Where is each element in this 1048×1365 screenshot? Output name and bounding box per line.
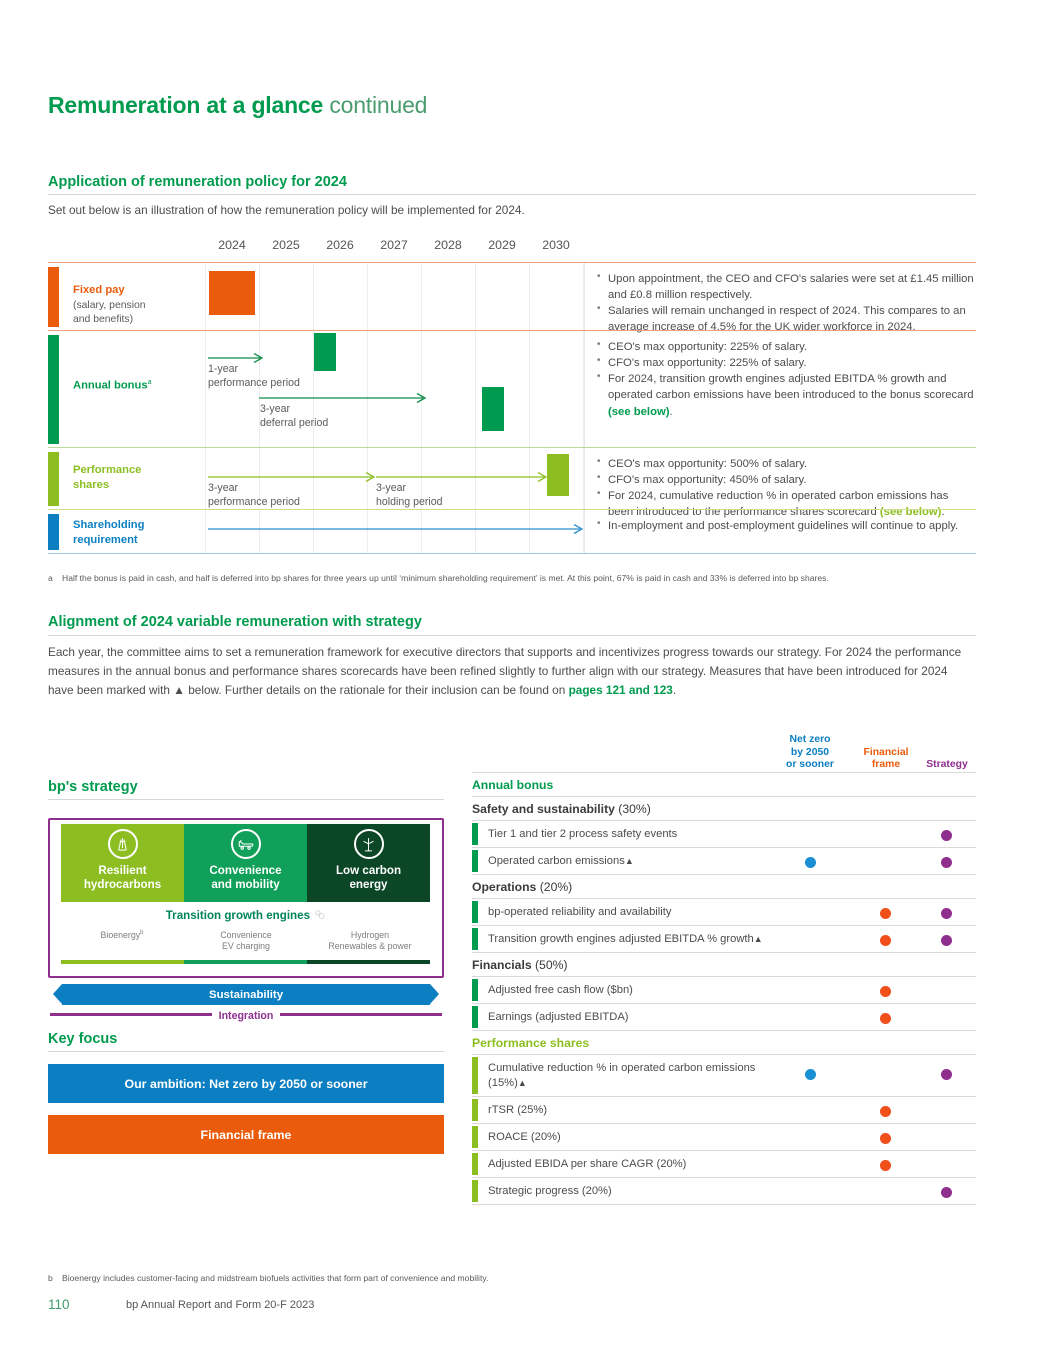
scorecard-dot-strategy	[941, 908, 952, 919]
timeline-row-shareholding: Shareholdingrequirement In-employment an…	[48, 510, 976, 554]
timeline-annotation-3-year-holding: 3-yearholding period	[376, 482, 486, 509]
scorecard-col-strategy: Strategy	[916, 759, 978, 772]
scorecard-row-bar	[472, 928, 478, 950]
strategy-pillar-2-title: Convenienceand mobility	[184, 864, 307, 892]
key-focus-block-net-zero: Our ambition: Net zero by 2050 or sooner	[48, 1064, 444, 1103]
scorecard-group-safety-pct: (30%)	[615, 802, 651, 816]
scorecard-row-adjusted-ebida-cagr[interactable]: Adjusted EBIDA per share CAGR (20%)	[472, 1150, 976, 1177]
integration-label: Integration	[212, 1010, 281, 1022]
scorecard-group-operations-name: Operations	[472, 880, 536, 894]
strategy-pillar-3-title: Low carbonenergy	[307, 864, 430, 892]
scorecard-section-annual-bonus-label: Annual bonus	[472, 773, 976, 796]
scorecard-col-net-zero-l2: by 2050	[791, 747, 829, 758]
page-root: Remuneration at a glance continued Appli…	[0, 0, 1048, 1365]
key-focus-block-financial-frame: Financial frame	[48, 1115, 444, 1154]
key-focus-heading: Key focus	[48, 1031, 117, 1047]
timeline-label-performance-shares: Performanceshares	[73, 463, 203, 492]
bullet-shareholding-1: In-employment and post-employment guidel…	[597, 518, 976, 534]
timeline-annotation-3-year-performance: 3-yearperformance period	[208, 482, 323, 509]
section-rule-1	[48, 194, 976, 195]
timeline-accent-annual-bonus	[48, 335, 59, 444]
alignment-para-part1: Each year, the committee aims to set a r…	[48, 645, 961, 697]
scorecard-row-bar	[472, 1006, 478, 1028]
report-source-label: bp Annual Report and Form 20-F 2023	[126, 1299, 314, 1311]
strategy-pillar-1-title: Resilienthydrocarbons	[61, 864, 184, 892]
scorecard-dot-strategy	[941, 1069, 952, 1080]
timeline-row-annual-bonus: Annual bonusa 1-yearperformance period 3…	[48, 331, 976, 448]
scorecard-row-tier1-tier2[interactable]: Tier 1 and tier 2 process safety events	[472, 820, 976, 847]
scorecard-col-net-zero-l1: Net zero	[790, 734, 831, 745]
page-title-bold: Remuneration at a glance	[48, 92, 323, 118]
oil-derrick-icon	[108, 829, 138, 859]
scorecard-group-financials: Financials (50%)	[472, 952, 976, 976]
tge-title: Transition growth engines	[166, 909, 310, 922]
timeline-row-fixed-pay: Fixed pay (salary, pensionand benefits) …	[48, 263, 976, 331]
scorecard-row-label: Earnings (adjusted EBITDA)	[472, 1004, 976, 1030]
scorecard-row-label: Operated carbon emissions▲	[472, 848, 976, 874]
key-focus-rule	[48, 1051, 444, 1052]
scorecard-row-earnings-adjusted-ebitda[interactable]: Earnings (adjusted EBITDA)	[472, 1003, 976, 1030]
scorecard-dot-financial-frame	[880, 1106, 891, 1117]
scorecard-dot-strategy	[941, 1187, 952, 1198]
timeline-notes-annual-bonus: CEO's max opportunity: 225% of salary. C…	[584, 331, 976, 448]
timeline-year-2026: 2026	[313, 238, 367, 252]
timeline-row-performance-shares: Performanceshares 3-yearperformance peri…	[48, 448, 976, 510]
strategy-rule	[48, 799, 444, 800]
footnote-b-text: Bioenergy includes customer-facing and m…	[62, 1273, 488, 1283]
page-title-continued: continued	[329, 92, 427, 118]
scorecard-row-operated-carbon-emissions[interactable]: Operated carbon emissions▲	[472, 847, 976, 874]
new-measure-triangle-icon: ▲	[518, 1078, 527, 1088]
scorecard-dot-financial-frame	[880, 986, 891, 997]
scorecard-row-tge-ebitda-growth[interactable]: Transition growth engines adjusted EBITD…	[472, 925, 976, 952]
section-heading-application: Application of remuneration policy for 2…	[48, 174, 347, 190]
timeline-annotation-1-year: 1-yearperformance period	[208, 363, 318, 390]
bullet-performance-shares-2: CFO's max opportunity: 450% of salary.	[597, 472, 976, 488]
timeline-year-2028: 2028	[421, 238, 475, 252]
timeline-notes-fixed-pay: Upon appointment, the CEO and CFO's sala…	[584, 263, 976, 331]
timeline-accent-shareholding	[48, 514, 59, 550]
scorecard-group-financials-label: Financials (50%)	[472, 953, 976, 976]
scorecard-dot-strategy	[941, 830, 952, 841]
scorecard-group-operations-label: Operations (20%)	[472, 875, 976, 898]
tge-columns: Bioenergyb ConvenienceEV charging Hydrog…	[60, 930, 432, 953]
scorecard-section-performance-shares-label: Performance shares	[472, 1031, 976, 1054]
sustainability-label: Sustainability	[209, 989, 283, 1001]
scorecard-row-bar	[472, 1099, 478, 1121]
timeline-year-2029: 2029	[475, 238, 529, 252]
timeline-label-name-annual-bonus: Annual bonus	[73, 380, 148, 392]
scorecard-group-safety: Safety and sustainability (30%)	[472, 796, 976, 820]
timeline-arrow-3-year-holding	[376, 472, 550, 482]
bp-strategy-diagram: Resilienthydrocarbons Convenienceand mob…	[48, 818, 444, 1016]
scorecard-dot-financial-frame	[880, 1013, 891, 1024]
scorecard-row-label: Adjusted free cash flow ($bn)	[472, 977, 976, 1003]
timeline-year-2030: 2030	[529, 238, 583, 252]
engine-gears-icon	[313, 908, 326, 921]
section-rule-2	[48, 635, 976, 636]
scorecard-group-financials-name: Financials	[472, 958, 532, 972]
timeline-arrow-3-year-deferral	[259, 393, 429, 403]
tge-column-2-line1: Convenience	[220, 930, 271, 940]
bullet-fixed-pay-1: Upon appointment, the CEO and CFO's sala…	[597, 271, 976, 303]
scorecard-bottom-rule	[472, 1204, 976, 1205]
scorecard-col-financial-l2: frame	[872, 759, 900, 770]
tge-column-2: ConvenienceEV charging	[184, 930, 308, 953]
scorecard-row-label: rTSR (25%)	[472, 1097, 976, 1123]
footnote-a-text: Half the bonus is paid in cash, and half…	[62, 573, 829, 583]
integration-band: Integration	[48, 1006, 444, 1020]
tge-column-3-line2: Renewables & power	[328, 941, 411, 951]
scorecard-col-financial-l1: Financial	[863, 747, 908, 758]
scorecard-dot-strategy	[941, 935, 952, 946]
scorecard-dot-financial-frame	[880, 1160, 891, 1171]
scorecard-row-label: Transition growth engines adjusted EBITD…	[472, 926, 976, 952]
section-intro-application: Set out below is an illustration of how …	[48, 201, 976, 220]
timeline-year-header: 2024 2025 2026 2027 2028 2029 2030	[48, 238, 976, 262]
scorecard-row-label-text: Operated carbon emissions	[488, 855, 625, 867]
scorecard-dot-financial-frame	[880, 935, 891, 946]
footnote-b: bBioenergy includes customer-facing and …	[48, 1272, 976, 1285]
timeline-accent-performance-shares	[48, 452, 59, 506]
scorecard-dot-net-zero	[805, 857, 816, 868]
timeline-arrow-shareholding	[208, 524, 586, 534]
tge-column-3: HydrogenRenewables & power	[308, 930, 432, 953]
key-focus-block-1-label: Our ambition: Net zero by 2050 or sooner	[124, 1077, 367, 1091]
page-title: Remuneration at a glance continued	[48, 92, 427, 119]
new-measure-triangle-icon: ▲	[754, 934, 763, 944]
transition-growth-engines-box: Transition growth engines Bioenergyb Con…	[60, 902, 432, 960]
scorecard-dot-financial-frame	[880, 1133, 891, 1144]
timeline-block-fixed-pay-2024	[209, 271, 255, 315]
timeline-notes-shareholding: In-employment and post-employment guidel…	[584, 510, 976, 554]
scorecard-row-bar	[472, 901, 478, 923]
scorecard-dot-financial-frame	[880, 908, 891, 919]
new-measure-triangle-icon: ▲	[625, 856, 634, 866]
sustainability-band: Sustainability	[62, 984, 430, 1005]
timeline-notes-performance-shares: CEO's max opportunity: 500% of salary. C…	[584, 448, 976, 510]
footnote-a-marker: a	[48, 572, 62, 585]
scorecard-row-label: Cumulative reduction % in operated carbo…	[472, 1055, 772, 1096]
remuneration-timeline: 2024 2025 2026 2027 2028 2029 2030	[48, 238, 976, 554]
scorecard-row-label-text: Cumulative reduction % in operated carbo…	[488, 1062, 755, 1089]
footnote-a: aHalf the bonus is paid in cash, and hal…	[48, 572, 976, 585]
scorecard-row-bp-operated-reliability[interactable]: bp-operated reliability and availability	[472, 898, 976, 925]
scorecard-row-bar	[472, 1180, 478, 1202]
bullet-performance-shares-1: CEO's max opportunity: 500% of salary.	[597, 456, 976, 472]
scorecard-row-roace[interactable]: ROACE (20%)	[472, 1123, 976, 1150]
timeline-block-performance-shares-2030	[547, 454, 569, 496]
alignment-para-part2: .	[673, 683, 676, 697]
timeline-label-shareholding: Shareholdingrequirement	[73, 518, 203, 547]
wind-turbine-icon	[354, 829, 384, 859]
scorecard-group-safety-name: Safety and sustainability	[472, 802, 615, 816]
key-focus-block-2-label: Financial frame	[201, 1128, 292, 1142]
scorecard-header: Net zero by 2050 or sooner Financial fra…	[472, 730, 976, 772]
tge-column-1: Bioenergyb	[60, 930, 184, 953]
scorecard-row-bar	[472, 979, 478, 1001]
scorecard-dot-net-zero	[805, 1069, 816, 1080]
link-see-below-bonus[interactable]: (see below)	[608, 406, 670, 418]
scorecard-dot-strategy	[941, 857, 952, 868]
tge-column-3-line1: Hydrogen	[351, 930, 389, 940]
scorecard-row-strategic-progress[interactable]: Strategic progress (20%)	[472, 1177, 976, 1204]
timeline-body: Fixed pay (salary, pensionand benefits) …	[48, 262, 976, 554]
timeline-label-name-performance-shares: Performanceshares	[73, 464, 141, 491]
timeline-label-fixed-pay: Fixed pay (salary, pensionand benefits)	[73, 283, 203, 327]
timeline-label-name-fixed-pay: Fixed pay	[73, 284, 125, 296]
timeline-arrow-1-year-performance	[208, 353, 266, 363]
timeline-rule-shareholding	[48, 553, 976, 554]
scorecard-row-bar	[472, 1057, 478, 1094]
scorecard-col-net-zero-l3: or sooner	[786, 759, 834, 770]
timeline-label-name-shareholding: Shareholdingrequirement	[73, 519, 144, 546]
bullet-annual-bonus-2: CFO's max opportunity: 225% of salary.	[597, 355, 976, 371]
tge-column-1-label: Bioenergy	[101, 930, 141, 940]
scorecard-row-bar	[472, 1126, 478, 1148]
scorecard-row-label-text: Transition growth engines adjusted EBITD…	[488, 933, 754, 945]
scorecard-row-adjusted-free-cash-flow[interactable]: Adjusted free cash flow ($bn)	[472, 976, 976, 1003]
scorecard-group-safety-label: Safety and sustainability (30%)	[472, 797, 976, 820]
footnote-b-marker: b	[48, 1272, 62, 1285]
section-para-alignment: Each year, the committee aims to set a r…	[48, 643, 976, 700]
tge-title-row: Transition growth engines	[60, 902, 432, 922]
scorecard-col-strategy-l1: Strategy	[926, 759, 968, 770]
bullet-annual-bonus-3: For 2024, transition growth engines adju…	[597, 371, 976, 419]
scorecard-row-label: Strategic progress (20%)	[472, 1178, 976, 1204]
tge-footnote-ref-b: b	[140, 930, 143, 936]
timeline-block-bonus-2025	[314, 333, 336, 371]
scorecard-row-bar	[472, 850, 478, 872]
scorecard-group-operations-pct: (20%)	[536, 880, 572, 894]
scorecard-row-label: Tier 1 and tier 2 process safety events	[472, 821, 976, 847]
scorecard-row-label: ROACE (20%)	[472, 1124, 976, 1150]
scorecard-col-net-zero: Net zero by 2050 or sooner	[768, 734, 852, 772]
ev-car-icon	[231, 829, 261, 859]
timeline-arrow-3-year-performance	[208, 472, 378, 482]
page-number: 110	[48, 1297, 70, 1312]
timeline-label-sub-fixed-pay: (salary, pensionand benefits)	[73, 300, 146, 326]
timeline-annotation-3-year-deferral: 3-yeardeferral period	[260, 403, 370, 430]
scorecard-row-bar	[472, 823, 478, 845]
scorecard-row-label: Adjusted EBIDA per share CAGR (20%)	[472, 1151, 976, 1177]
timeline-block-bonus-2028	[482, 387, 504, 431]
strategy-heading: bp's strategy	[48, 779, 138, 795]
scorecard-table: Net zero by 2050 or sooner Financial fra…	[472, 730, 976, 1205]
scorecard-row-cumulative-reduction[interactable]: Cumulative reduction % in operated carbo…	[472, 1054, 976, 1096]
scorecard-section-annual-bonus: Annual bonus	[472, 772, 976, 796]
scorecard-section-performance-shares: Performance shares	[472, 1030, 976, 1054]
scorecard-row-bar	[472, 1153, 478, 1175]
scorecard-group-financials-pct: (50%)	[532, 958, 568, 972]
timeline-label-annual-bonus: Annual bonusa	[73, 378, 203, 393]
timeline-footnote-ref-a: a	[148, 379, 152, 386]
scorecard-col-financial-frame: Financial frame	[852, 747, 920, 772]
timeline-year-2025: 2025	[259, 238, 313, 252]
timeline-year-2024: 2024	[205, 238, 259, 252]
bullet-annual-bonus-1: CEO's max opportunity: 225% of salary.	[597, 339, 976, 355]
scorecard-row-label: bp-operated reliability and availability	[472, 899, 976, 925]
tge-column-2-line2: EV charging	[222, 941, 270, 951]
link-pages-121-123[interactable]: pages 121 and 123	[569, 683, 673, 697]
scorecard-group-operations: Operations (20%)	[472, 874, 976, 898]
scorecard-row-rtsr[interactable]: rTSR (25%)	[472, 1096, 976, 1123]
timeline-accent-fixed-pay	[48, 267, 59, 327]
timeline-year-2027: 2027	[367, 238, 421, 252]
section-heading-alignment: Alignment of 2024 variable remuneration …	[48, 614, 422, 630]
